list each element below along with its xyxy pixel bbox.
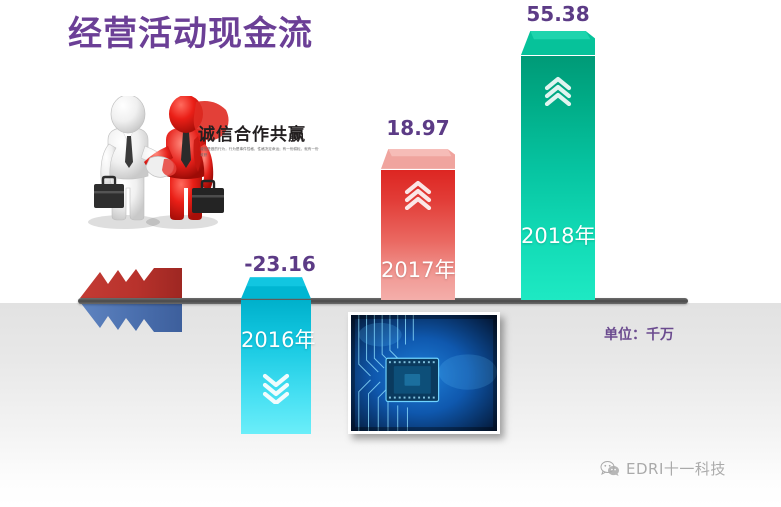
- watermark: EDRI十一科技: [600, 458, 726, 479]
- bar-2016-top-face: [241, 276, 311, 300]
- slide-canvas: 经营活动现金流: [0, 0, 781, 507]
- bar-2016-value: -23.16: [241, 252, 319, 276]
- bar-2018-top-face: [521, 30, 595, 56]
- chevrons-up-icon: [521, 76, 595, 111]
- page-title: 经营活动现金流: [68, 6, 313, 55]
- bar-2016: 2016年: [241, 276, 311, 434]
- bar-2017-value: 18.97: [381, 116, 455, 140]
- bar-2017: 2017年: [381, 148, 455, 300]
- unit-note: 单位：千万: [604, 324, 674, 344]
- handshake-figures-icon: [78, 96, 328, 231]
- bar-2017-top-face: [381, 148, 455, 170]
- bar-2016-label: 2016年: [241, 324, 311, 354]
- chevrons-down-icon: [241, 370, 311, 409]
- illustration-subtext: 诚信是做的行为，行为是事件性格，性格决定命运；有一份耕耘，就有一份收获: [200, 146, 320, 158]
- bar-2018-label: 2018年: [521, 220, 595, 250]
- wechat-icon: [600, 460, 620, 478]
- bar-2018-value: 55.38: [521, 2, 595, 26]
- handshake-illustration: 诚信合作共赢 诚信是做的行为，行为是事件性格，性格决定命运；有一份耕耘，就有一份…: [78, 96, 328, 231]
- chevrons-up-icon: [381, 180, 455, 215]
- bar-2017-label: 2017年: [381, 254, 455, 284]
- circuit-board-chip-photo: [348, 312, 500, 434]
- circuit-board-image: [351, 315, 497, 431]
- watermark-text: EDRI十一科技: [626, 458, 726, 479]
- bar-2016-front-face: [241, 300, 311, 434]
- illustration-headline: 诚信合作共赢: [198, 120, 306, 145]
- bar-2018: 2018年: [521, 30, 595, 300]
